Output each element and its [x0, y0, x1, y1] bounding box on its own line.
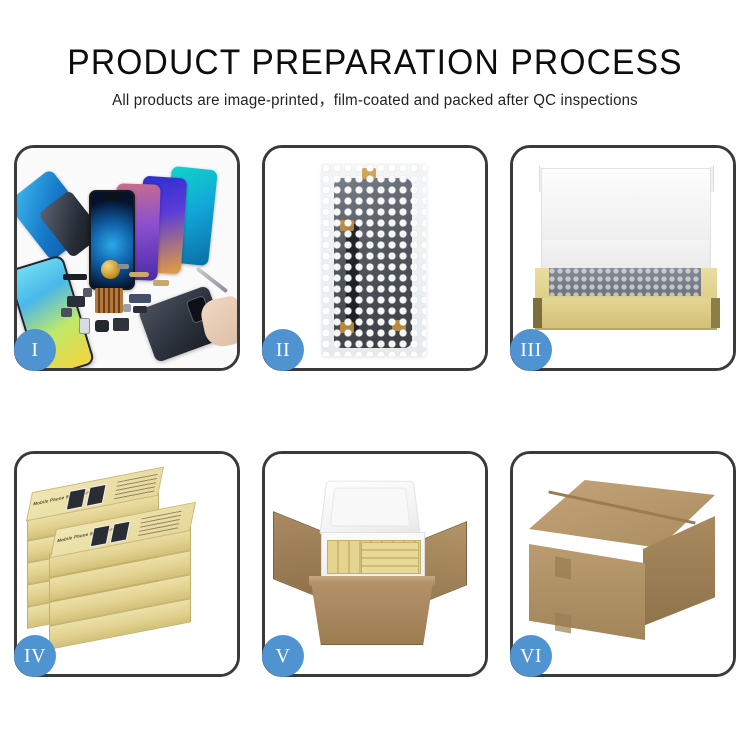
carton-body [311, 582, 433, 645]
foam-box-lid-inset [330, 488, 410, 527]
bubble-texture [322, 164, 426, 356]
bubble-wrap-bag [322, 164, 426, 356]
panel-step-3[interactable]: III [510, 145, 736, 371]
part-screw-plate [123, 304, 131, 312]
part-module [133, 306, 147, 313]
part-flex-cable [129, 294, 151, 303]
yellow-boxes-inside-row2 [361, 542, 419, 574]
panel-step-4[interactable]: Mobile Phone Spare Parts Mobile Phone Sp… [14, 451, 240, 677]
part-connector-bar [63, 274, 87, 280]
panel-badge-3: III [510, 329, 552, 371]
box-label-screen-image [86, 484, 107, 507]
page-header: PRODUCT PREPARATION PROCESS All products… [0, 0, 750, 111]
panel-step-1[interactable]: I [14, 145, 240, 371]
part-small-metal [117, 264, 129, 269]
box-label-spec-lines [114, 474, 158, 501]
part-bracket [67, 296, 85, 307]
box-corner-left [533, 298, 542, 328]
chip-grid-component [95, 288, 123, 313]
box-label-screen-image [90, 524, 111, 547]
part-vibrator [113, 318, 129, 331]
part-flex-gold [129, 272, 149, 277]
panel-badge-4: IV [14, 635, 56, 677]
panel-badge-6: VI [510, 635, 552, 677]
panel-badge-5: V [262, 635, 304, 677]
panel-step-6[interactable]: VI [510, 451, 736, 677]
part-gold-strip [153, 280, 169, 286]
page-title: PRODUCT PREPARATION PROCESS [15, 0, 735, 84]
box-tray-front [535, 298, 717, 330]
panel-badge-2: II [262, 329, 304, 371]
bubble-wrapped-contents [549, 268, 701, 296]
box-inner-wall [543, 240, 709, 270]
carton-tape-lower [555, 612, 571, 633]
part-button [83, 288, 92, 297]
box-label-spec-lines [138, 511, 182, 538]
phone-notch [103, 194, 121, 199]
panel-badge-1: I [14, 329, 56, 371]
box-label-screen-image [110, 521, 131, 544]
part-camera [95, 320, 109, 332]
part-sim-tray [79, 318, 90, 334]
box-corner-right [711, 298, 720, 328]
panel-step-5[interactable]: V [262, 451, 488, 677]
page-subtitle: All products are image-printed，film-coat… [11, 84, 739, 111]
box-label-screen-image [66, 488, 87, 511]
process-panel-grid: I II [14, 145, 736, 677]
foam-box-lid [319, 481, 421, 536]
part-speaker [61, 308, 72, 317]
carton-tape-upper [555, 556, 571, 579]
panel-step-2[interactable]: II [262, 145, 488, 371]
gold-component [101, 260, 120, 279]
